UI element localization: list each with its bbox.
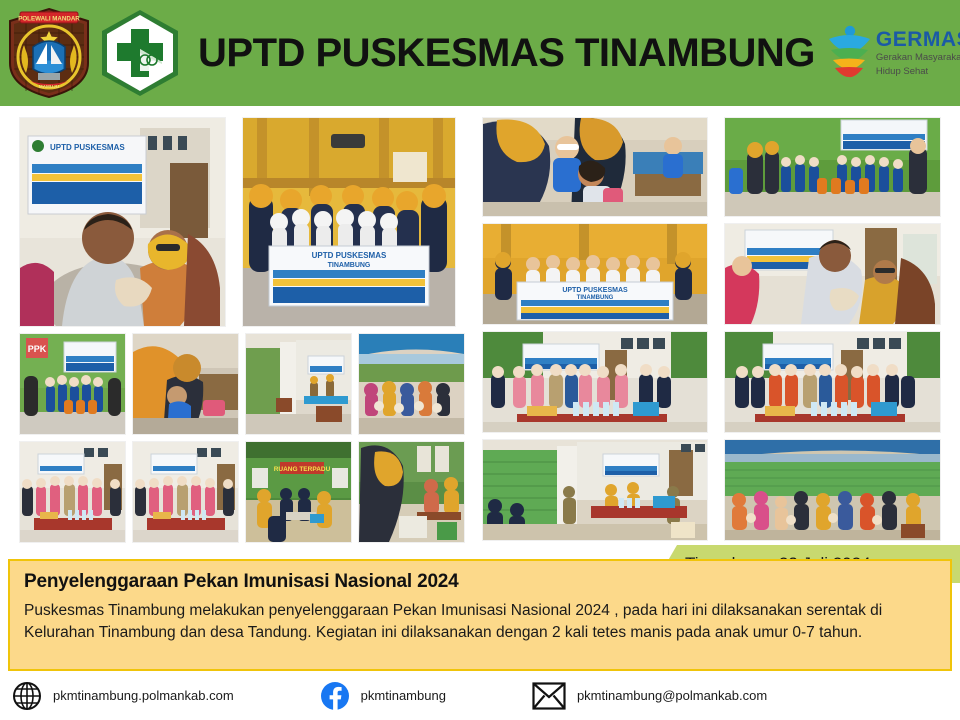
photo-collage: UPTD PUSKESMAS [0, 106, 960, 558]
germas-logo: GERMAS Gerakan Masyarakat Hidup Sehat [825, 22, 960, 84]
svg-text:UPTD PUSKESMAS: UPTD PUSKESMAS [562, 287, 628, 294]
svg-text:UPTD PUSKESMAS: UPTD PUSKESMAS [312, 251, 387, 260]
germas-tagline-line2: Hidup Sehat [876, 66, 960, 77]
page-footer: pkmtinambung.polmankab.com pkmtinambung … [0, 671, 960, 720]
photo-vaccination-father-holding-baby[interactable]: UPTD PUSKESMAS [20, 118, 225, 326]
photo-crowd-under-blue-canopy[interactable] [359, 334, 464, 434]
svg-text:POLEWALI MANDAR: POLEWALI MANDAR [18, 16, 80, 23]
svg-text:RUANG TERPADU: RUANG TERPADU [274, 466, 331, 473]
photo-mothers-children-green-tent[interactable] [725, 440, 940, 540]
page-title: UPTD PUSKESMAS TINAMBUNG [198, 33, 815, 73]
germas-tagline-line1: Gerakan Masyarakat [876, 52, 960, 63]
svg-text:TINAMBUNG: TINAMBUNG [577, 295, 614, 301]
globe-icon [12, 681, 42, 711]
contact-facebook-text: pkmtinambung [361, 688, 446, 703]
contact-website[interactable]: pkmtinambung.polmankab.com [12, 681, 234, 711]
photo-kindergarten-class-group-green-wall[interactable] [725, 118, 940, 216]
germas-name: GERMAS [876, 29, 960, 50]
photo-orange-uniform-group-front-building-large[interactable] [725, 332, 940, 432]
envelope-icon [532, 682, 566, 710]
photo-officials-seated-white-building[interactable] [246, 334, 351, 434]
photo-health-worker-closeup-indoor[interactable] [359, 442, 464, 542]
photo-group-students-with-banner-yellow-hall[interactable]: UPTD PUSKESMAS TINAMBUNG [243, 118, 455, 326]
photo-students-with-banner-orange-school[interactable]: UPTD PUSKESMAS TINAMBUNG [483, 224, 707, 324]
photo-pink-uniform-group-front-building-large[interactable] [483, 332, 707, 432]
caption-body: Puskesmas Tinambung melakukan penyelengg… [24, 600, 936, 644]
caption-title: Penyelenggaraan Pekan Imunisasi Nasional… [24, 571, 950, 593]
polewali-mandar-regency-crest-icon: POLEWALI MANDAR MAMUJU [6, 7, 92, 99]
facebook-icon [320, 681, 350, 711]
contact-email[interactable]: pkmtinambung@polmankab.com [532, 682, 767, 710]
svg-text:PPK: PPK [28, 344, 47, 354]
photo-students-ppk-room-group[interactable]: PPK [20, 334, 125, 434]
photo-father-with-baby-vaccination-indoor[interactable] [725, 224, 940, 324]
svg-text:MAMUJU: MAMUJU [39, 84, 60, 89]
svg-text:TINAMBUNG: TINAMBUNG [328, 262, 371, 269]
photo-nurse-giving-polio-drops-classroom[interactable] [483, 118, 707, 216]
page-header: POLEWALI MANDAR MAMUJU UPTD PUSKESMAS TI… [0, 0, 960, 106]
contact-email-text: pkmtinambung@polmankab.com [577, 688, 767, 703]
contact-website-text: pkmtinambung.polmankab.com [53, 688, 234, 703]
caption-box: Penyelenggaraan Pekan Imunisasi Nasional… [8, 559, 952, 671]
photo-officials-seated-green-fence[interactable] [483, 440, 707, 540]
puskesmas-cross-logo-icon [96, 7, 184, 99]
photo-pink-uniform-group-front-building[interactable] [20, 442, 125, 542]
svg-text:UPTD PUSKESMAS: UPTD PUSKESMAS [50, 143, 125, 152]
contact-facebook[interactable]: pkmtinambung [320, 681, 446, 711]
photo-orange-uniform-group-front-building[interactable] [133, 442, 238, 542]
photo-nurse-drops-girl-backpack[interactable] [133, 334, 238, 434]
photo-team-meeting-green-room[interactable]: RUANG TERPADU [246, 442, 351, 542]
germas-figure-icon [825, 22, 873, 84]
